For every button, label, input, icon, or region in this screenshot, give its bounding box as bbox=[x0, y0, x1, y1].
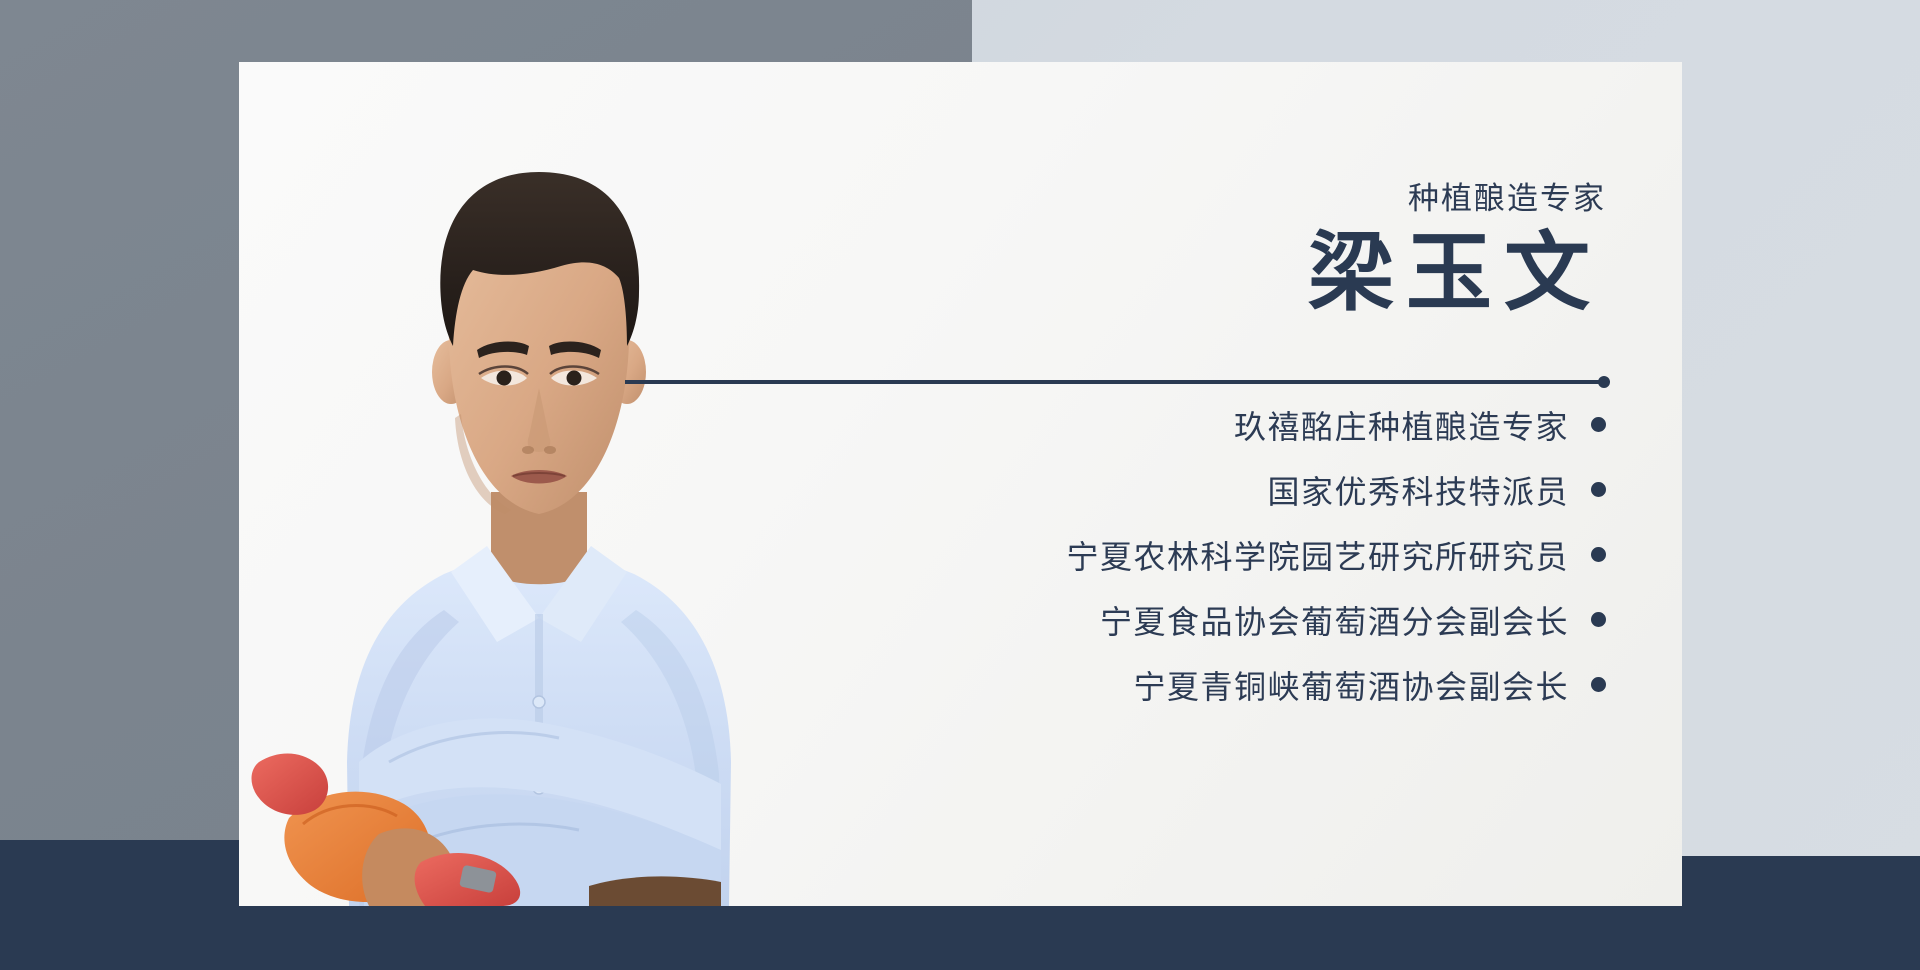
collar-right bbox=[539, 546, 627, 642]
nostril-right bbox=[544, 446, 556, 454]
shirt-torso bbox=[347, 550, 731, 906]
eyebrow-right bbox=[549, 341, 601, 358]
credential-label: 宁夏青铜峡葡萄酒协会副会长 bbox=[1133, 662, 1569, 708]
collar-left bbox=[451, 546, 539, 642]
arm-lower bbox=[364, 794, 721, 906]
nose bbox=[528, 388, 551, 452]
credential-label: 宁夏农林科学院园艺研究所研究员 bbox=[1066, 532, 1569, 578]
divider-end-dot-icon bbox=[1598, 376, 1610, 388]
bullet-dot-icon bbox=[1591, 482, 1606, 497]
pupil-left bbox=[497, 371, 512, 386]
ear-right bbox=[608, 340, 646, 404]
list-item: 国家优秀科技特派员 bbox=[706, 457, 1606, 522]
face bbox=[449, 202, 629, 514]
credential-label: 玖禧酩庄种植酿造专家 bbox=[1234, 402, 1569, 448]
headline-text-column: 种植酿造专家 梁玉文 bbox=[826, 62, 1606, 320]
ear-left bbox=[432, 340, 470, 404]
pupil-right bbox=[567, 371, 582, 386]
glove-seam bbox=[303, 806, 397, 824]
credential-list: 玖禧酩庄种植酿造专家 国家优秀科技特派员 宁夏农林科学院园艺研究所研究员 宁夏食… bbox=[706, 392, 1606, 717]
sleeve-fold bbox=[389, 733, 559, 762]
bullet-dot-icon bbox=[1591, 677, 1606, 692]
profile-card: 种植酿造专家 梁玉文 玖禧酩庄种植酿造专家 国家优秀科技特派员 宁夏农林科学院园… bbox=[239, 62, 1682, 906]
list-item: 宁夏食品协会葡萄酒分会副会长 bbox=[706, 587, 1606, 652]
profile-banner: 种植酿造专家 梁玉文 玖禧酩庄种植酿造专家 国家优秀科技特派员 宁夏农林科学院园… bbox=[0, 0, 1920, 970]
tool-label bbox=[459, 865, 497, 894]
bullet-dot-icon bbox=[1591, 417, 1606, 432]
eye-white-right bbox=[551, 371, 597, 386]
shirt-placket bbox=[535, 614, 543, 762]
belt bbox=[589, 876, 721, 906]
credential-label: 国家优秀科技特派员 bbox=[1267, 467, 1569, 513]
sleeve-fold bbox=[399, 824, 579, 850]
pruning-shear-handle-lower bbox=[415, 853, 521, 906]
hair bbox=[440, 172, 639, 346]
credential-label: 宁夏食品协会葡萄酒分会副会长 bbox=[1100, 597, 1569, 643]
hand-skin bbox=[362, 828, 454, 906]
shirt-button bbox=[533, 782, 545, 794]
list-item: 宁夏青铜峡葡萄酒协会副会长 bbox=[706, 652, 1606, 717]
list-item: 玖禧酩庄种植酿造专家 bbox=[706, 392, 1606, 457]
eye-white-left bbox=[481, 371, 527, 386]
list-item: 宁夏农林科学院园艺研究所研究员 bbox=[706, 522, 1606, 587]
pruning-shear-handle-upper bbox=[252, 753, 329, 814]
eyelid-left bbox=[479, 367, 528, 375]
neck bbox=[491, 492, 587, 584]
bullet-dot-icon bbox=[1591, 547, 1606, 562]
jaw-shadow bbox=[455, 414, 511, 514]
bullet-dot-icon bbox=[1591, 612, 1606, 627]
arm-upper bbox=[359, 718, 721, 852]
work-glove bbox=[284, 792, 431, 902]
eyelid-right bbox=[550, 367, 599, 375]
divider-rule bbox=[625, 380, 1605, 384]
eyebrow-left bbox=[477, 341, 529, 358]
shirt-button bbox=[533, 696, 545, 708]
mouth bbox=[511, 470, 567, 484]
nostril-left bbox=[522, 446, 534, 454]
shirt-shadow-left bbox=[359, 610, 459, 906]
lip-line bbox=[513, 473, 565, 476]
expert-name: 梁玉文 bbox=[826, 227, 1606, 320]
role-subtitle: 种植酿造专家 bbox=[826, 180, 1606, 217]
